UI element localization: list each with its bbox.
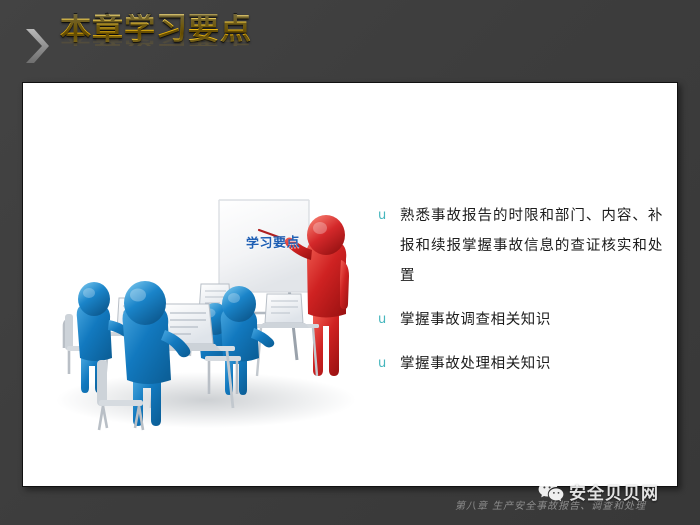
list-item-label: 掌握事故处理相关知识 <box>400 349 663 379</box>
wechat-icon <box>538 481 564 503</box>
list-item-label: 掌握事故调查相关知识 <box>400 305 663 335</box>
list-item-label: 熟悉事故报告的时限和部门、内容、补报和续报掌握事故信息的查证核实和处置 <box>400 201 663 291</box>
slide-title-bar: 本章学习要点 本章学习要点 <box>0 18 700 80</box>
learning-objectives-list: u 熟悉事故报告的时限和部门、内容、补报和续报掌握事故信息的查证核实和处置 u … <box>378 201 663 393</box>
chevron-right-icon <box>24 28 50 64</box>
bullet-marker-icon: u <box>378 349 400 379</box>
list-item: u 掌握事故调查相关知识 <box>378 305 663 335</box>
classroom-training-illustration: 学习要点 <box>41 108 371 438</box>
list-item: u 掌握事故处理相关知识 <box>378 349 663 379</box>
content-panel: 学习要点 u 熟悉事故报告的时限和部门、内容、补报和续报掌握事故信息的查证核实和… <box>22 82 678 487</box>
slide-background: 本章学习要点 本章学习要点 <box>0 0 700 525</box>
bullet-marker-icon: u <box>378 201 400 231</box>
watermark-label: 安全贝贝网 <box>569 479 659 504</box>
page-title: 本章学习要点 <box>60 14 252 45</box>
whiteboard-label: 学习要点 <box>246 231 300 251</box>
bullet-marker-icon: u <box>378 305 400 335</box>
list-item: u 熟悉事故报告的时限和部门、内容、补报和续报掌握事故信息的查证核实和处置 <box>378 201 663 291</box>
watermark: 安全贝贝网 <box>538 479 659 504</box>
